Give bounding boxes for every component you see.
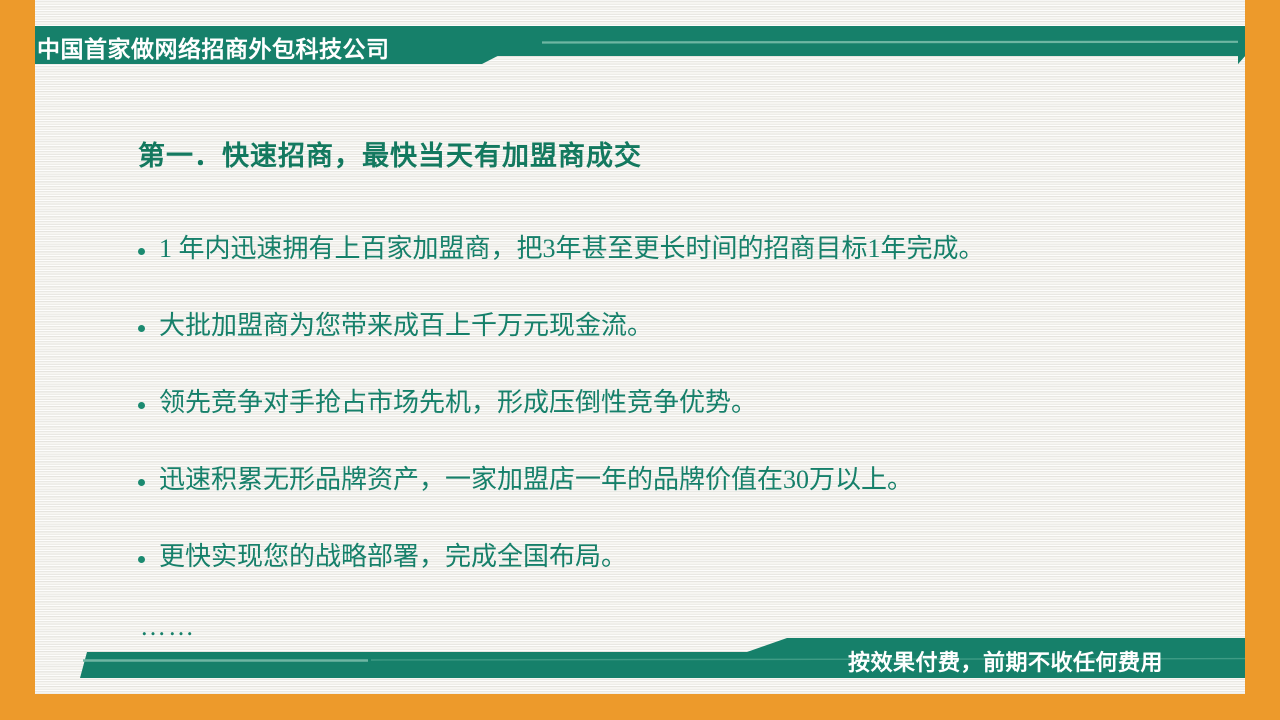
list-item-label: 1 年内迅速拥有上百家加盟商，把3年甚至更长时间的招商目标1年完成。 [159,232,1198,266]
page-title: 第一．快速招商，最快当天有加盟商成交 [138,134,642,173]
list-item-label: 更快实现您的战略部署，完成全国布局。 [159,540,1198,574]
bullet-list: 1 年内迅速拥有上百家加盟商，把3年甚至更长时间的招商目标1年完成。 大批加盟商… [138,232,1198,617]
list-item-label: 大批加盟商为您带来成百上千万元现金流。 [159,309,1198,343]
footer-tagline: 按效果付费，前期不收任何费用 [848,648,1163,678]
bullet-dot-icon [138,556,145,563]
list-item-label: 迅速积累无形品牌资产，一家加盟店一年的品牌价值在30万以上。 [159,463,1198,497]
list-item: 迅速积累无形品牌资产，一家加盟店一年的品牌价值在30万以上。 [138,463,1198,540]
list-item: 领先竞争对手抢占市场先机，形成压倒性竞争优势。 [138,386,1198,463]
list-item: 大批加盟商为您带来成百上千万元现金流。 [138,309,1198,386]
bullet-dot-icon [138,248,145,255]
slide-root: 中国首家做网络招商外包科技公司 第一．快速招商，最快当天有加盟商成交 1 年内迅… [0,0,1280,720]
bullet-dot-icon [138,402,145,409]
bullet-dot-icon [138,325,145,332]
bullet-dot-icon [138,479,145,486]
list-item: 1 年内迅速拥有上百家加盟商，把3年甚至更长时间的招商目标1年完成。 [138,232,1198,309]
list-item-label: 领先竞争对手抢占市场先机，形成压倒性竞争优势。 [159,386,1198,420]
ellipsis-text: …… [140,614,196,640]
list-item: 更快实现您的战略部署，完成全国布局。 [138,540,1198,617]
header-title: 中国首家做网络招商外包科技公司 [37,33,557,65]
